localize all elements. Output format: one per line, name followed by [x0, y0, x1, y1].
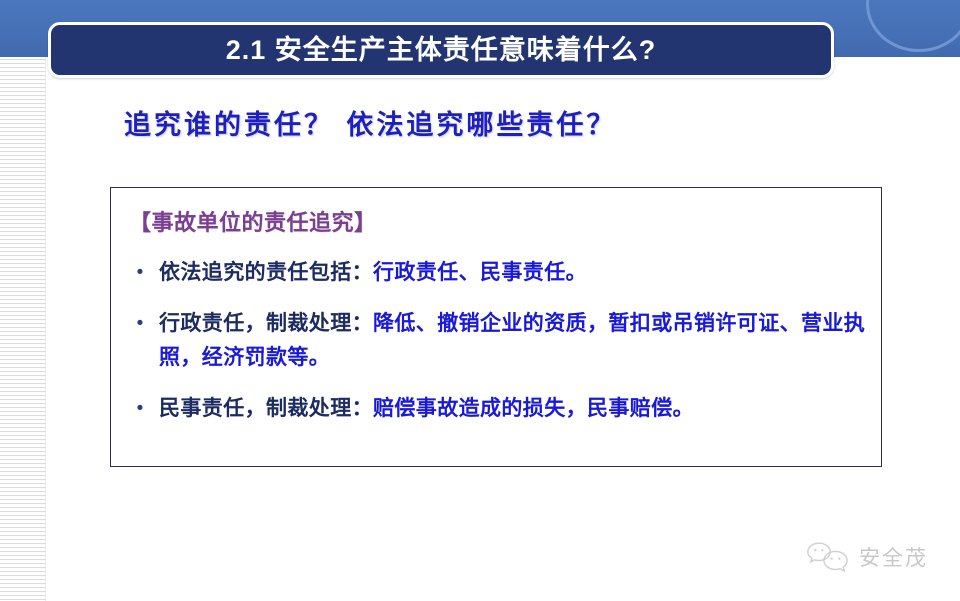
list-item: • 民事责任，制裁处理：赔偿事故造成的损失，民事赔偿。 [121, 392, 873, 426]
bullet-list: • 依法追究的责任包括：行政责任、民事责任。 • 行政责任，制裁处理：降低、撤销… [121, 256, 873, 443]
bullet-segment-lead: 行政责任，制裁处理： [159, 312, 373, 335]
wechat-chat-bubbles-icon [805, 540, 851, 574]
title-plate: 2.1 安全生产主体责任意味着什么? [48, 22, 834, 78]
content-box-heading: 【事故单位的责任追究】 [129, 205, 377, 237]
content-box: 【事故单位的责任追究】 • 依法追究的责任包括：行政责任、民事责任。 • 行政责… [110, 187, 882, 467]
bullet-segment-emphasis: 行政责任、民事责任。 [373, 261, 587, 284]
bullet-dot-icon: • [121, 307, 159, 341]
bullet-segment-lead: 依法追究的责任包括： [159, 261, 373, 284]
page-title: 2.1 安全生产主体责任意味着什么? [226, 37, 657, 64]
list-item: • 行政责任，制裁处理：降低、撤销企业的资质，暂扣或吊销许可证、营业执照，经济罚… [121, 307, 873, 375]
watermark-text: 安全茂 [859, 542, 928, 572]
bullet-segment-lead: 民事责任，制裁处理： [159, 397, 373, 420]
bullet-dot-icon: • [121, 392, 159, 426]
bullet-text: 行政责任，制裁处理：降低、撤销企业的资质，暂扣或吊销许可证、营业执照，经济罚款等… [159, 307, 873, 375]
bullet-segment-emphasis: 赔偿事故造成的损失，民事赔偿。 [373, 397, 694, 420]
bullet-text: 依法追究的责任包括：行政责任、民事责任。 [159, 256, 873, 290]
subtitle-question: 追究谁的责任？ 依法追究哪些责任？ [124, 103, 616, 142]
striped-side-band-edge [45, 57, 46, 601]
bullet-dot-icon: • [121, 256, 159, 290]
bullet-text: 民事责任，制裁处理：赔偿事故造成的损失，民事赔偿。 [159, 392, 873, 426]
list-item: • 依法追究的责任包括：行政责任、民事责任。 [121, 256, 873, 290]
striped-side-band [0, 57, 46, 601]
arc-decoration-icon [866, 0, 960, 52]
slide-canvas: 2.1 安全生产主体责任意味着什么? 追究谁的责任？ 依法追究哪些责任？ 【事故… [0, 0, 960, 601]
watermark: 安全茂 [805, 540, 928, 574]
